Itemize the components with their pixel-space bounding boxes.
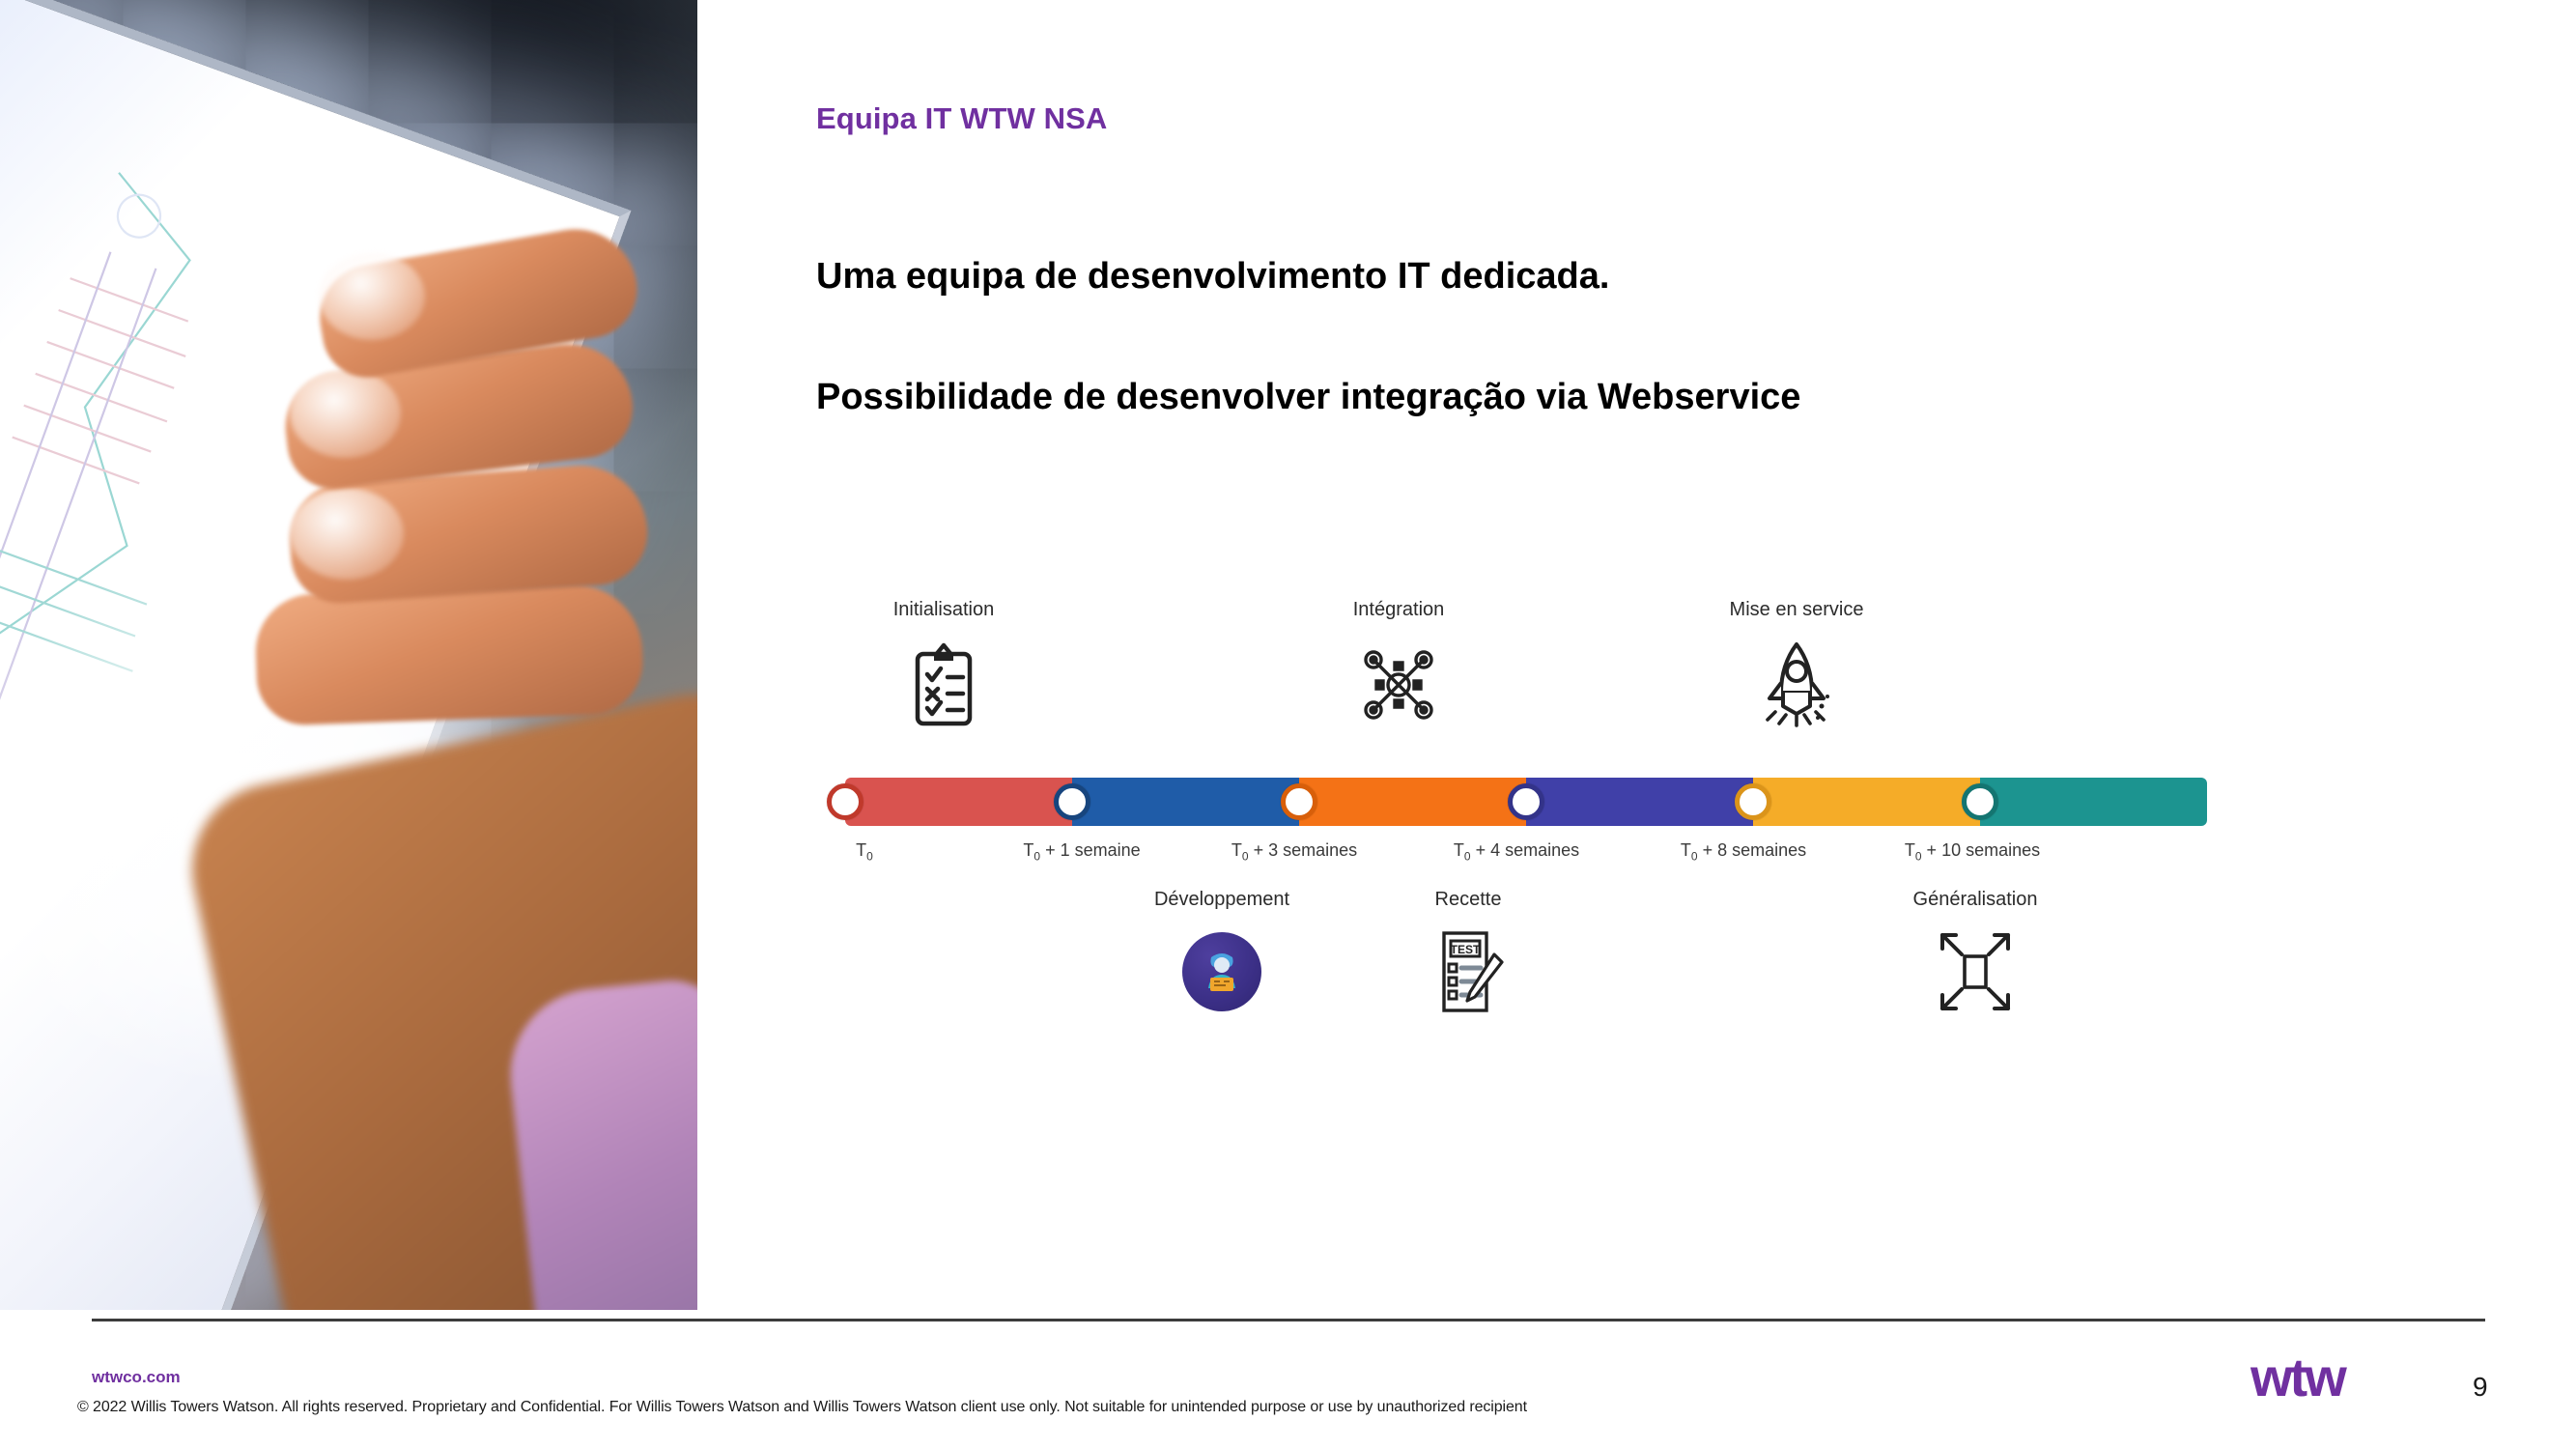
timeline-bar xyxy=(845,778,2207,826)
section-eyebrow: Equipa IT WTW NSA xyxy=(816,101,1107,136)
timeline-time-label: T0 xyxy=(856,840,873,864)
fingernail xyxy=(290,488,404,580)
phase-label-initialisation: Initialisation xyxy=(893,599,995,621)
phase-label-mise-en-service: Mise en service xyxy=(1730,599,1864,621)
timeline-time-label: T0 + 8 semaines xyxy=(1681,840,1806,864)
footer-divider xyxy=(92,1319,2485,1321)
timeline-segment xyxy=(1526,778,1753,826)
fingernail xyxy=(290,369,401,458)
timeline-node xyxy=(1281,783,1317,820)
timeline-segment xyxy=(1753,778,1980,826)
project-timeline: Initialisation Intégration xyxy=(831,599,2222,1063)
timeline-segment xyxy=(1299,778,1526,826)
lead-line-1: Uma equipa de desenvolvimento IT dedicad… xyxy=(816,256,1609,298)
finger xyxy=(254,582,644,726)
phase-label-generalisation: Généralisation xyxy=(1913,889,2038,911)
phase-label-integration: Intégration xyxy=(1353,599,1445,621)
expand-arrows-icon xyxy=(1931,925,2020,1018)
timeline-segment xyxy=(845,778,1072,826)
rocket-icon xyxy=(1752,634,1841,735)
timeline-time-label: T0 + 10 semaines xyxy=(1905,840,2040,864)
timeline-node xyxy=(1962,783,1998,820)
footer-site-link[interactable]: wtwco.com xyxy=(92,1368,181,1387)
timeline-time-label: T0 + 4 semaines xyxy=(1454,840,1579,864)
timeline-node xyxy=(1054,783,1090,820)
timeline-node xyxy=(1508,783,1544,820)
page-number: 9 xyxy=(2473,1372,2488,1403)
wtw-logo: wtw xyxy=(2250,1350,2344,1405)
phase-label-recette: Recette xyxy=(1435,889,1502,911)
timeline-node xyxy=(827,783,863,820)
tablet-hand-photo xyxy=(0,0,697,1310)
test-checklist-icon: TEST xyxy=(1424,925,1513,1018)
footer-legal-text: © 2022 Willis Towers Watson. All rights … xyxy=(77,1399,1527,1416)
timeline-segment xyxy=(1980,778,2207,826)
timeline-time-label: T0 + 1 semaine xyxy=(1023,840,1140,864)
lead-line-2: Possibilidade de desenvolver integração … xyxy=(816,377,1800,418)
phase-label-developpement: Développement xyxy=(1154,889,1289,911)
developer-avatar-icon xyxy=(1177,925,1266,1018)
thumb xyxy=(502,975,697,1310)
clipboard-checklist-icon xyxy=(899,634,988,735)
svg-text:TEST: TEST xyxy=(1451,943,1481,956)
timeline-segment xyxy=(1072,778,1299,826)
gears-icon xyxy=(1354,634,1443,735)
fingernail xyxy=(319,253,425,340)
timeline-node xyxy=(1735,783,1771,820)
timeline-time-label: T0 + 3 semaines xyxy=(1231,840,1357,864)
slide: Equipa IT WTW NSA Uma equipa de desenvol… xyxy=(0,0,2576,1449)
